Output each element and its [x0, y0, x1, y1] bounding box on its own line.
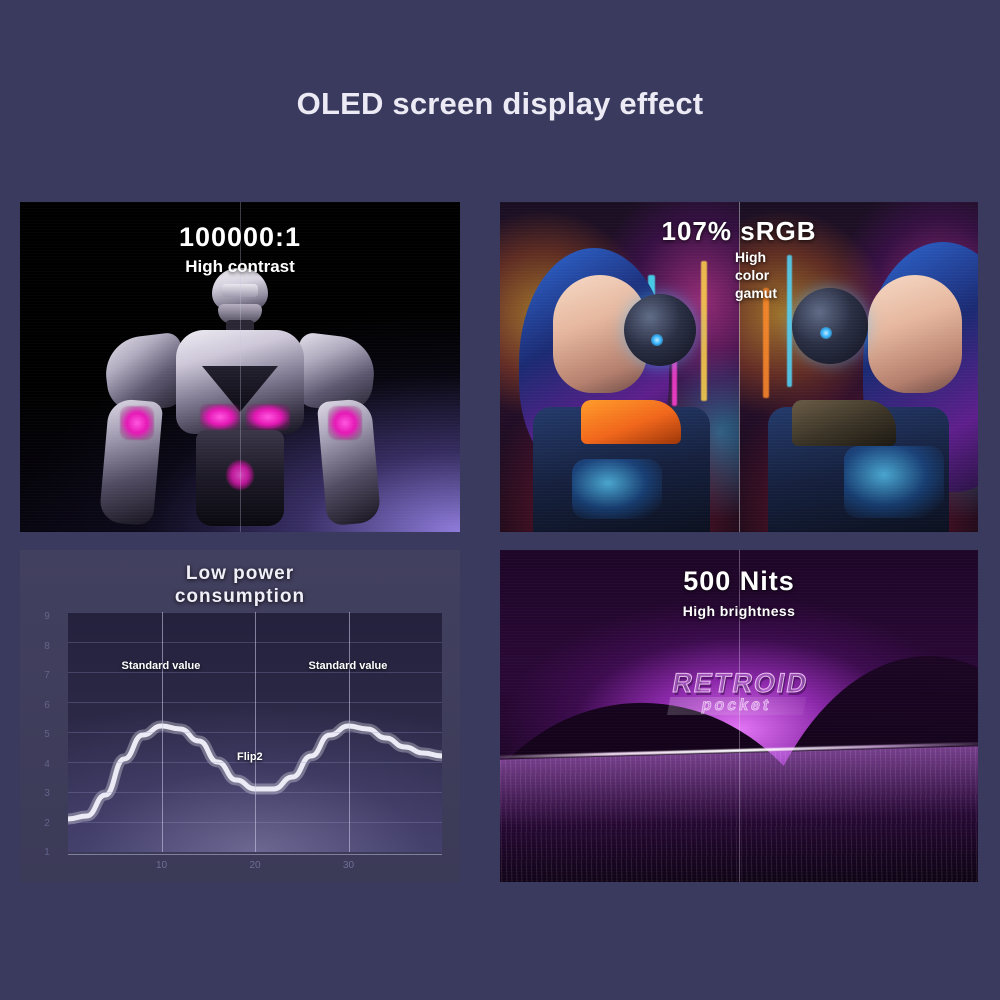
- gamut-right-tech-glow: [844, 446, 944, 518]
- power-caption: Low power consumption: [20, 562, 460, 608]
- chart-x-tick: 10: [156, 860, 167, 871]
- gamut-panel-seam: [739, 202, 740, 532]
- panel-high-brightness[interactable]: RETROID pocket 500 Nits High brightness: [500, 550, 978, 882]
- power-consumption-chart: 987654321 Standard valueFlip2Standard va…: [20, 608, 460, 882]
- chart-y-tick: 5: [44, 730, 50, 740]
- gamut-left-tech-glow: [572, 459, 662, 519]
- chart-y-tick: 2: [44, 819, 50, 829]
- page-title: OLED screen display effect: [0, 86, 1000, 122]
- chart-y-tick: 8: [44, 642, 50, 652]
- chart-plot-area: Standard valueFlip2Standard value: [68, 612, 442, 852]
- mech-glow-arm-left: [120, 406, 154, 440]
- gamut-right-face: [868, 275, 962, 393]
- panel-color-gamut[interactable]: 107% sRGB High color gamut: [500, 202, 978, 532]
- chart-y-tick: 1: [44, 848, 50, 858]
- brightness-panel-seam: [739, 550, 740, 882]
- mech-glow-chest-right: [246, 404, 290, 430]
- mech-glow-arm-right: [328, 406, 362, 440]
- poster-stage: OLED screen display effect 100000:1: [0, 0, 1000, 1000]
- power-headline-line-2: consumption: [20, 585, 460, 608]
- chart-marker-line: [349, 612, 350, 852]
- chart-y-axis: 987654321: [34, 612, 60, 858]
- chart-y-tick: 4: [44, 760, 50, 770]
- chart-annotation: Standard value: [122, 660, 201, 672]
- chart-x-axis-line: [68, 854, 442, 855]
- neon-bar: [787, 255, 792, 387]
- mech-glow-chest-left: [200, 404, 240, 430]
- neon-bar: [701, 261, 707, 401]
- gamut-left-headset-led: [651, 334, 663, 346]
- chart-x-axis: 102030: [68, 854, 442, 878]
- chart-y-tick: 3: [44, 789, 50, 799]
- gamut-right-headset: [792, 288, 868, 364]
- gamut-left-collar: [581, 400, 681, 444]
- gamut-image-left: [500, 202, 739, 532]
- chart-annotation: Standard value: [309, 660, 388, 672]
- neon-bar: [763, 288, 769, 398]
- chart-y-tick: 9: [44, 612, 50, 622]
- panel-high-contrast[interactable]: 100000:1 High contrast: [20, 202, 460, 532]
- chart-x-tick: 20: [249, 860, 260, 871]
- gamut-right-collar: [792, 400, 896, 446]
- chart-x-tick: 30: [343, 860, 354, 871]
- chart-y-tick: 7: [44, 671, 50, 681]
- chart-marker-line: [255, 612, 256, 852]
- panel-low-power[interactable]: Low power consumption 987654321 Standard…: [20, 550, 460, 882]
- chart-y-tick: 6: [44, 701, 50, 711]
- gamut-image-right: [739, 202, 978, 532]
- chart-annotation: Flip2: [237, 751, 263, 763]
- chart-marker-line: [162, 612, 163, 852]
- power-headline-line-1: Low power: [20, 562, 460, 585]
- contrast-panel-seam: [240, 202, 241, 532]
